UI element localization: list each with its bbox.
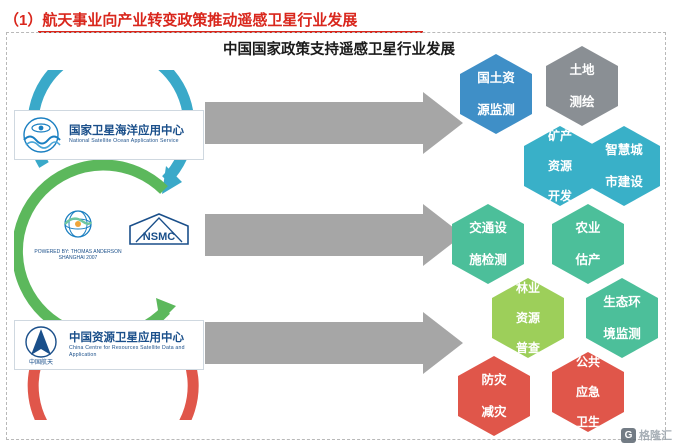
arrow-policy-3 bbox=[205, 312, 463, 374]
resources-satellite-icon: 中国航天 bbox=[15, 321, 67, 369]
logo-nsmc: POWERED BY: THOMAS ANDERSON SHANGHAI 200… bbox=[32, 208, 190, 260]
svg-text:NSMC: NSMC bbox=[143, 231, 175, 243]
svg-text:中国航天: 中国航天 bbox=[29, 358, 53, 365]
nsmc-caption: POWERED BY: THOMAS ANDERSON SHANGHAI 200… bbox=[32, 249, 124, 261]
logo-text: 中国资源卫星应用中心 China Centre for Resources Sa… bbox=[67, 332, 203, 359]
logo-name-cn: 国家卫星海洋应用中心 bbox=[69, 125, 203, 138]
logo-satellite-ocean: 国家卫星海洋应用中心 National Satellite Ocean Appl… bbox=[14, 110, 204, 160]
watermark: G 格隆汇 bbox=[621, 427, 672, 443]
logo-name-en: China Centre for Resources Satellite Dat… bbox=[69, 345, 203, 359]
logo-text: 国家卫星海洋应用中心 National Satellite Ocean Appl… bbox=[67, 125, 203, 145]
logo-name-cn: 中国资源卫星应用中心 bbox=[69, 332, 203, 345]
header-title: （1）航天事业向产业转变政策推动遥感卫星行业发展 bbox=[4, 9, 357, 30]
logo-resources-satellite: 中国航天 中国资源卫星应用中心 China Centre for Resourc… bbox=[14, 320, 204, 370]
logo-name-en: National Satellite Ocean Application Ser… bbox=[69, 138, 203, 145]
watermark-text: 格隆汇 bbox=[639, 427, 672, 443]
wave-satellite-icon bbox=[15, 111, 67, 159]
watermark-badge: G bbox=[621, 428, 636, 443]
nsmc-globe-icon: POWERED BY: THOMAS ANDERSON SHANGHAI 200… bbox=[32, 208, 124, 261]
page-header: （1）航天事业向产业转变政策推动遥感卫星行业发展 bbox=[0, 4, 678, 30]
arrow-policy-1 bbox=[205, 92, 463, 154]
arrow-policy-2 bbox=[205, 204, 463, 266]
nsmc-wordmark: NSMC bbox=[128, 212, 190, 257]
